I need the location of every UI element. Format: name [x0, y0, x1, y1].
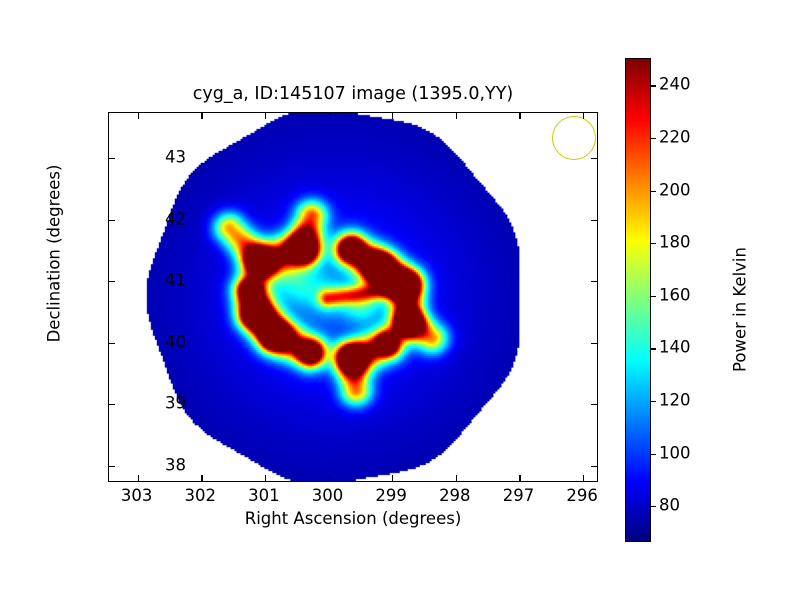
y-tick-left — [109, 281, 115, 282]
x-tick-top — [392, 113, 393, 119]
x-tick-top — [456, 113, 457, 119]
x-tick-label: 296 — [566, 486, 598, 505]
colorbar-tick-label: 120 — [659, 390, 691, 409]
x-tick-label: 301 — [248, 486, 280, 505]
y-axis-label: Declination (degrees) — [45, 124, 64, 384]
colorbar-tick-label: 180 — [659, 233, 691, 252]
colorbar-tick — [650, 454, 656, 455]
x-tick-bottom — [519, 475, 520, 481]
y-tick-label: 42 — [165, 209, 186, 228]
y-tick-left — [109, 466, 115, 467]
colorbar-tick-label: 140 — [659, 338, 691, 357]
x-tick-bottom — [329, 475, 330, 481]
colorbar-tick-label: 200 — [659, 180, 691, 199]
y-tick-left — [109, 404, 115, 405]
x-tick-label: 302 — [185, 486, 217, 505]
colorbar-tick — [650, 348, 656, 349]
plot-title: cyg_a, ID:145107 image (1395.0,YY) — [108, 84, 598, 104]
y-tick-label: 41 — [165, 271, 186, 290]
y-tick-left — [109, 220, 115, 221]
colorbar[interactable] — [625, 58, 651, 542]
x-tick-bottom — [201, 475, 202, 481]
x-tick-top — [583, 113, 584, 119]
colorbar-tick — [650, 296, 656, 297]
colorbar-label: Power in Kelvin — [731, 180, 750, 440]
x-axis-label: Right Ascension (degrees) — [108, 509, 598, 528]
x-tick-bottom — [265, 475, 266, 481]
colorbar-tick — [650, 85, 656, 86]
x-tick-top — [201, 113, 202, 119]
y-tick-right — [591, 220, 597, 221]
colorbar-tick-label: 160 — [659, 285, 691, 304]
x-tick-top — [519, 113, 520, 119]
x-tick-label: 303 — [121, 486, 153, 505]
figure-canvas: cyg_a, ID:145107 image (1395.0,YY) 30330… — [0, 0, 800, 600]
colorbar-tick-label: 100 — [659, 443, 691, 462]
image-axes[interactable] — [108, 112, 598, 482]
x-tick-label: 299 — [375, 486, 407, 505]
beam-size-circle-icon — [552, 116, 596, 160]
y-tick-label: 39 — [165, 394, 186, 413]
y-tick-label: 43 — [165, 147, 186, 166]
colorbar-gradient — [626, 59, 650, 541]
colorbar-tick — [650, 138, 656, 139]
x-tick-bottom — [138, 475, 139, 481]
colorbar-tick-label: 240 — [659, 75, 691, 94]
colorbar-tick — [650, 401, 656, 402]
y-tick-right — [591, 281, 597, 282]
x-tick-label: 300 — [312, 486, 344, 505]
y-tick-right — [591, 343, 597, 344]
x-tick-label: 297 — [503, 486, 535, 505]
colorbar-tick-label: 80 — [659, 496, 680, 515]
colorbar-tick — [650, 506, 656, 507]
x-tick-bottom — [583, 475, 584, 481]
x-tick-top — [138, 113, 139, 119]
colorbar-tick-label: 220 — [659, 127, 691, 146]
y-tick-right — [591, 404, 597, 405]
colorbar-tick — [650, 243, 656, 244]
x-tick-bottom — [456, 475, 457, 481]
y-tick-right — [591, 466, 597, 467]
sky-image-heatmap[interactable] — [109, 113, 597, 481]
y-tick-right — [591, 158, 597, 159]
x-tick-top — [265, 113, 266, 119]
x-tick-bottom — [392, 475, 393, 481]
y-tick-label: 40 — [165, 332, 186, 351]
y-tick-left — [109, 343, 115, 344]
colorbar-tick — [650, 191, 656, 192]
x-tick-top — [329, 113, 330, 119]
x-tick-label: 298 — [439, 486, 471, 505]
y-tick-label: 38 — [165, 455, 186, 474]
y-tick-left — [109, 158, 115, 159]
